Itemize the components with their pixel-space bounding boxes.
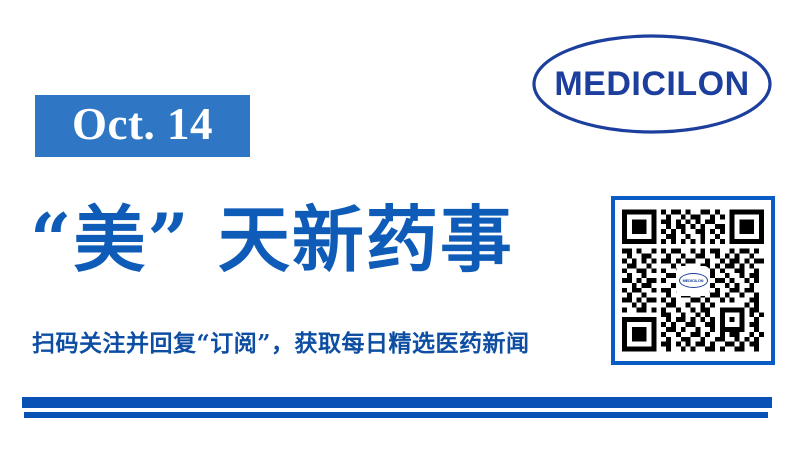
qr-code-canvas[interactable]: MEDICILON — [622, 207, 764, 354]
date-badge: Oct. 14 — [35, 95, 250, 157]
qr-center-logo: MEDICILON — [676, 266, 710, 296]
qr-logo-ellipse: MEDICILON — [679, 273, 708, 288]
page-title: “美” 天新药事 — [30, 186, 600, 294]
date-badge-label: Oct. 14 — [72, 102, 213, 150]
qr-logo-wordmark: MEDICILON — [683, 279, 704, 283]
logo-wordmark: MEDICILON — [531, 33, 773, 135]
newsletter-poster: MEDICILON Oct. 14 “美” 天新药事 扫码关注并回复“订阅”，获… — [0, 0, 800, 468]
subscribe-instruction: 扫码关注并回复“订阅”，获取每日精选医药新闻 — [32, 326, 602, 360]
qr-code-frame[interactable]: MEDICILON — [611, 196, 775, 365]
medicilon-logo: MEDICILON — [531, 33, 773, 135]
divider-rule-thin — [24, 412, 768, 418]
divider-rule-thick — [22, 397, 772, 408]
